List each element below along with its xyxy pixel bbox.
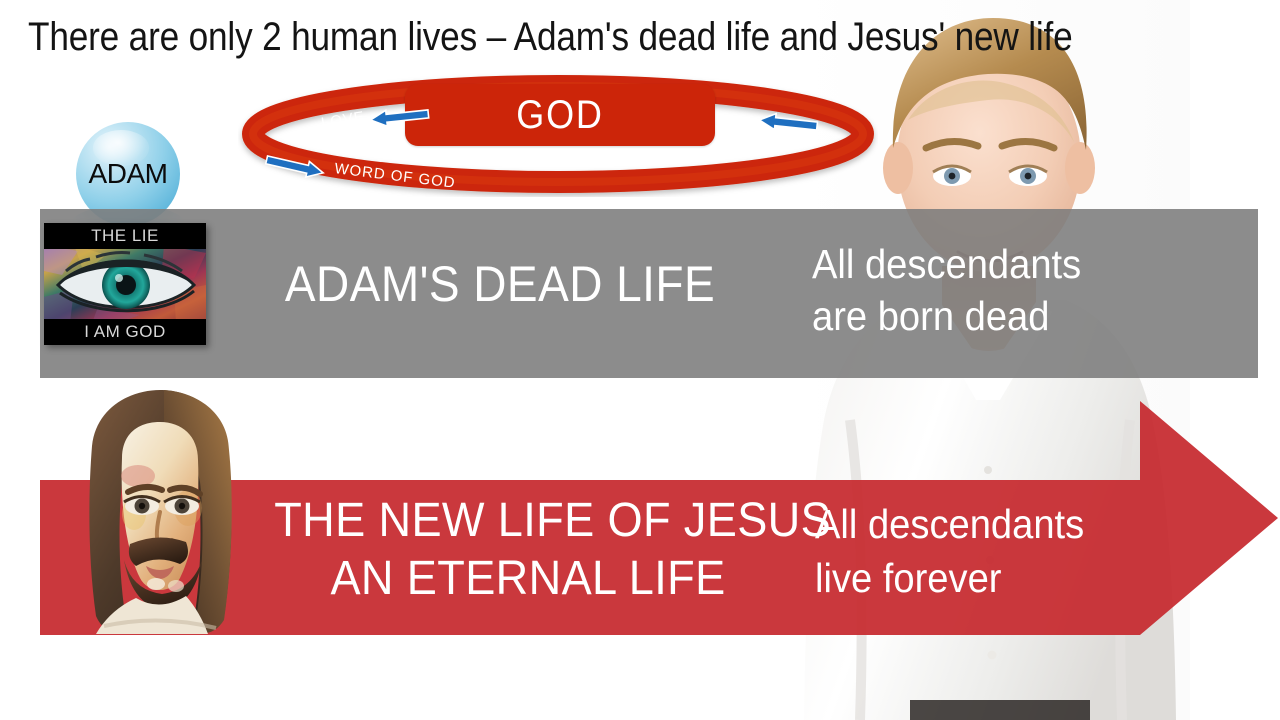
love-label: LOVE <box>320 108 366 132</box>
new-life-heading: THE NEW LIFE OF JESUS AN ETERNAL LIFE <box>274 492 782 608</box>
arrow-left-icon <box>759 112 818 134</box>
adams-dead-life-heading: ADAM'S DEAD LIFE <box>261 256 739 312</box>
live-forever-line-2: live forever <box>815 551 1122 605</box>
arrow-right-icon <box>265 152 325 181</box>
jesus-watercolor-portrait <box>52 388 268 636</box>
arrow-left-icon <box>370 106 429 128</box>
born-dead-line-2: are born dead <box>812 290 1119 342</box>
colorful-eye-image <box>44 245 206 323</box>
word-of-god-label: WORD OF GOD <box>334 160 457 192</box>
slide-canvas: There are only 2 human lives – Adam's de… <box>0 0 1280 720</box>
the-lie-bottom-caption: I AM GOD <box>44 319 206 345</box>
live-forever-note: All descendants live forever <box>815 497 1122 605</box>
cycle-label-word-of-god: WORD OF GOD <box>265 152 457 192</box>
cycle-label-fruit: FRUIT <box>714 112 817 138</box>
new-life-line-2: AN ETERNAL LIFE <box>274 550 782 608</box>
born-dead-line-1: All descendants <box>812 238 1119 290</box>
born-dead-note: All descendants are born dead <box>812 238 1119 342</box>
cycle-labels-layer: LOVE WORD OF GOD FRUIT <box>238 72 878 197</box>
slide-title: There are only 2 human lives – Adam's de… <box>28 14 1022 60</box>
live-forever-line-1: All descendants <box>815 497 1122 551</box>
the-lie-card: THE LIE I AM GOD <box>44 223 206 345</box>
the-lie-top-caption: THE LIE <box>44 223 206 249</box>
fruit-label: FRUIT <box>714 114 765 138</box>
new-life-line-1: THE NEW LIFE OF JESUS <box>274 492 782 550</box>
cycle-label-love: LOVE <box>320 106 429 132</box>
